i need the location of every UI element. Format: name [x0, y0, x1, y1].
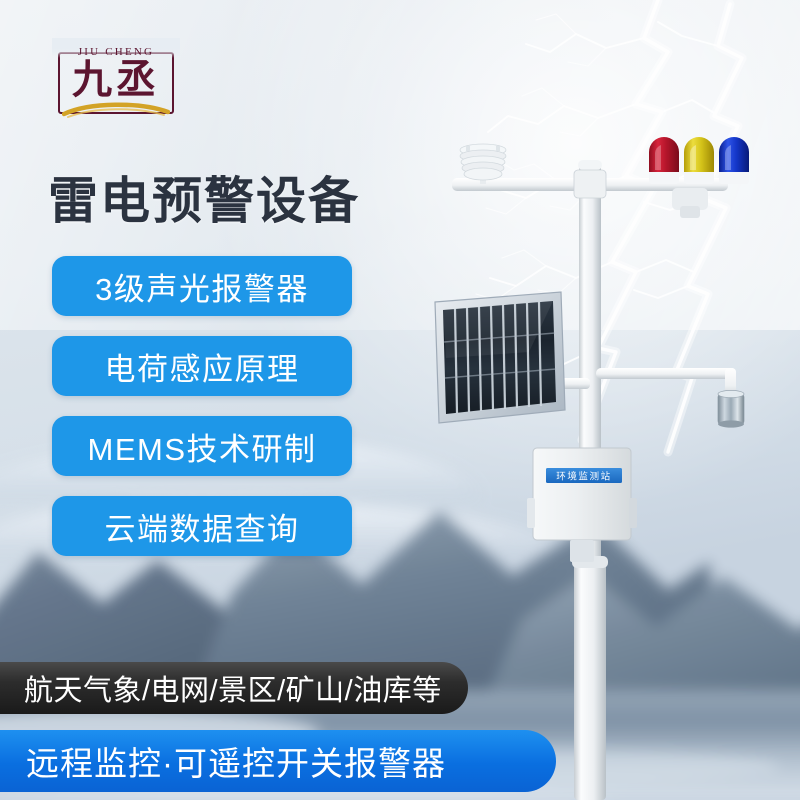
remote-control-label: 远程监控·可遥控开关报警器 [26, 737, 446, 785]
logo-romaji-text: JIU CHENG [52, 38, 180, 58]
feature-label-4: 云端数据查询 [105, 504, 300, 549]
feature-label-1: 3级声光报警器 [95, 264, 309, 309]
remote-control-bar: 远程监控·可遥控开关报警器 [0, 730, 556, 792]
feature-label-3: MEMS技术研制 [88, 424, 317, 469]
feature-item-2: 电荷感应原理 [52, 336, 352, 396]
feature-list: 3级声光报警器 电荷感应原理 MEMS技术研制 云端数据查询 [52, 256, 352, 576]
feature-item-3: MEMS技术研制 [52, 416, 352, 476]
page-title: 雷电预警设备 [48, 170, 360, 232]
application-scenarios-label: 航天气象/电网/景区/矿山/油库等 [24, 667, 442, 709]
feature-label-2: 电荷感应原理 [105, 344, 300, 389]
brand-logo: JIU CHENG 九丞 [52, 38, 180, 118]
product-poster: 环境监测站 JIU CHENG 九丞 雷电预警设备 3级声光报警器 电荷感应原理… [0, 0, 800, 800]
application-scenarios-bar: 航天气象/电网/景区/矿山/油库等 [0, 662, 468, 714]
logo-chinese-text: 九丞 [52, 58, 180, 102]
logo-swoosh [62, 100, 170, 118]
feature-item-4: 云端数据查询 [52, 496, 352, 556]
feature-item-1: 3级声光报警器 [52, 256, 352, 316]
